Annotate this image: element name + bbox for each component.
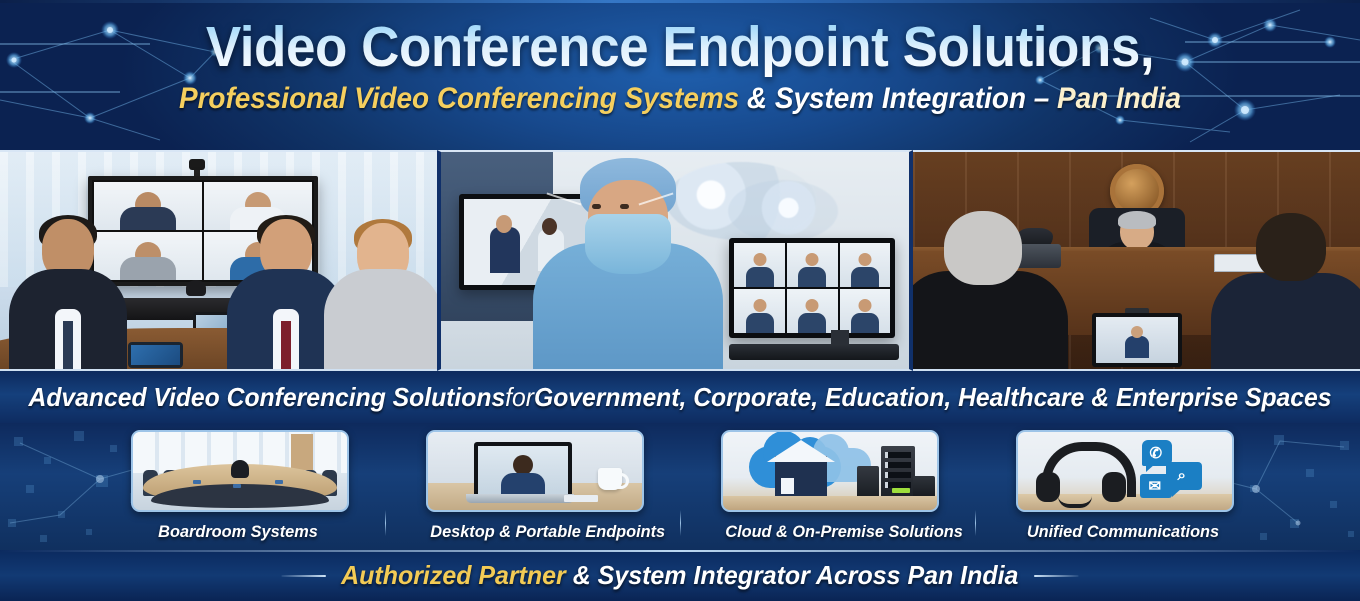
footer-rule-left [282, 575, 326, 577]
tagline-connector: for [505, 382, 534, 413]
desktop-endpoint-thumbnail[interactable] [426, 430, 644, 512]
attorney-left [913, 211, 1063, 369]
category-card-desktop[interactable]: Desktop & Portable Endpoints [426, 430, 640, 542]
operating-room-telemedicine-illustration [441, 152, 910, 369]
mail-icon: ✉ [1140, 474, 1172, 498]
card-divider-2 [680, 510, 681, 536]
ptz-camera-icon [189, 159, 205, 170]
card-divider-1 [385, 510, 386, 536]
control-tablet [128, 342, 183, 368]
footer-white-part: & System Integrator Across Pan India [566, 560, 1019, 590]
courtroom-video-testimony-illustration [913, 152, 1360, 369]
category-label-boardroom: Boardroom Systems [135, 522, 340, 542]
corporate-boardroom-illustration [0, 152, 437, 369]
tagline-band: Advanced Video Conferencing Solutions fo… [0, 371, 1360, 423]
laptop-icon [474, 442, 572, 502]
page-title: Video Conference Endpoint Solutions, [48, 0, 1313, 77]
footer-content: Authorized Partner & System Integrator A… [282, 560, 1078, 591]
cloud-onpremise-thumbnail[interactable] [721, 430, 939, 512]
header-text-block: Video Conference Endpoint Solutions, Pro… [0, 0, 1360, 116]
footer-gold-part: Authorized Partner [341, 560, 566, 590]
footer-rule-right [1034, 575, 1078, 577]
video-conference-banner: Video Conference Endpoint Solutions, Pro… [0, 0, 1360, 601]
hero-panel-corporate-boardroom [0, 150, 437, 371]
category-card-row: Boardroom Systems Desktop & Portable End… [0, 423, 1360, 550]
card-divider-3 [975, 510, 976, 536]
multi-party-video-monitor [729, 238, 895, 338]
category-label-cloud: Cloud & On-Premise Solutions [725, 522, 930, 542]
banner-header: Video Conference Endpoint Solutions, Pro… [0, 0, 1360, 150]
banner-footer: Authorized Partner & System Integrator A… [0, 550, 1360, 601]
subtitle-cream-part: Pan India [1057, 82, 1181, 115]
hero-panel-courtroom [913, 150, 1360, 371]
tagline-text: Advanced Video Conferencing Solutions fo… [34, 371, 1326, 423]
hero-image-strip [0, 150, 1360, 371]
tagline-bold-part: Advanced Video Conferencing Solutions [29, 382, 506, 413]
surgeon-figure [528, 158, 728, 371]
person-right-2 [323, 223, 437, 369]
table-camera-icon [231, 460, 249, 478]
footer-text: Authorized Partner & System Integrator A… [341, 560, 1018, 591]
unified-communications-thumbnail[interactable]: ✆ ⌕ ✉ [1016, 430, 1234, 512]
hero-panel-healthcare [437, 150, 914, 371]
category-label-unified-comms: Unified Communications [1020, 522, 1225, 542]
boardroom-thumbnail[interactable] [131, 430, 349, 512]
category-card-unified-comms[interactable]: ✆ ⌕ ✉ Unified Communications [1016, 430, 1230, 542]
category-label-desktop: Desktop & Portable Endpoints [430, 522, 635, 542]
solution-categories-section: Boardroom Systems Desktop & Portable End… [0, 423, 1360, 550]
attorney-right [1216, 213, 1360, 369]
page-subtitle: Professional Video Conferencing Systems … [48, 77, 1313, 116]
tagline-sectors: Government, Corporate, Education, Health… [534, 382, 1331, 413]
subtitle-gold-part: Professional Video Conferencing Systems [179, 82, 739, 115]
conference-speakerphone [186, 280, 206, 296]
subtitle-white-part: & System Integration – [739, 82, 1057, 115]
person-left [4, 219, 132, 369]
coffee-cup-icon [598, 468, 622, 490]
category-card-boardroom[interactable]: Boardroom Systems [131, 430, 345, 542]
category-card-cloud[interactable]: Cloud & On-Premise Solutions [721, 430, 935, 542]
remote-witness-screen [1092, 313, 1182, 367]
